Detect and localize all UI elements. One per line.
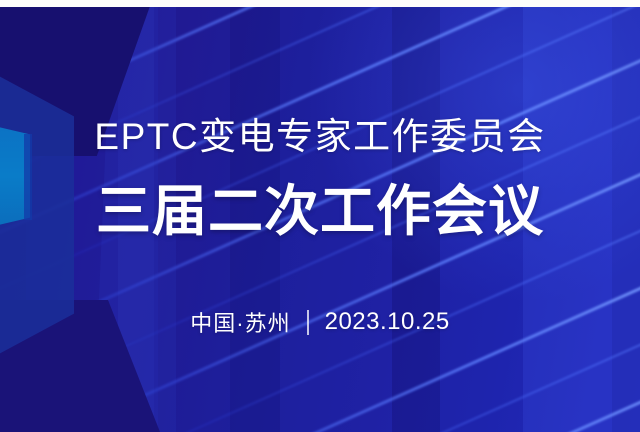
banner-location: 中国·苏州 [190,306,290,338]
banner-date: 2023.10.25 [325,308,450,336]
banner-subline: 中国·苏州 2023.10.25 [0,306,640,338]
banner-title-primary: EPTC变电专家工作委员会 [0,113,640,161]
subline-divider [307,310,309,335]
banner-content: EPTC变电专家工作委员会 三届二次工作会议 中国·苏州 2023.10.25 [0,0,640,432]
conference-banner: EPTC变电专家工作委员会 三届二次工作会议 中国·苏州 2023.10.25 [0,0,640,432]
top-white-strip [0,0,640,7]
banner-title-secondary: 三届二次工作会议 [0,178,640,244]
